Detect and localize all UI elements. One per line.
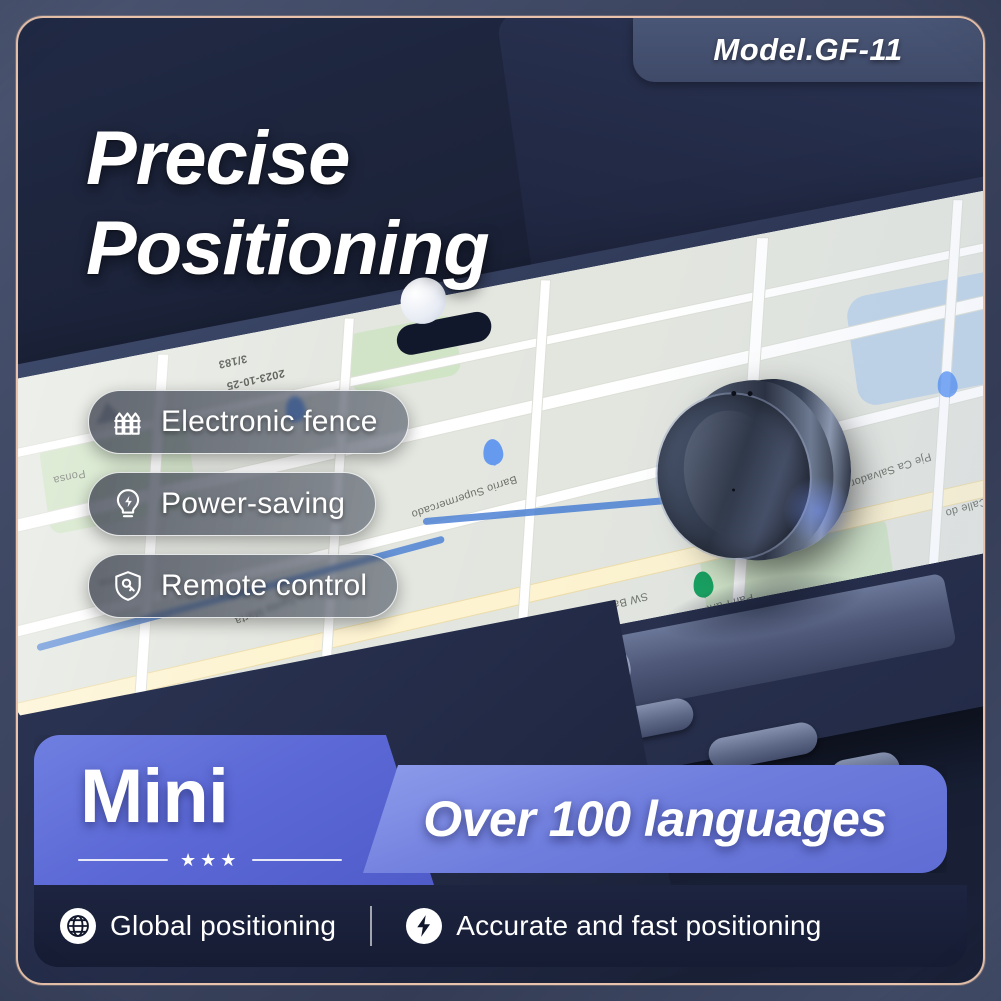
model-label: Model.GF-11 bbox=[713, 32, 902, 68]
feature-label: Electronic fence bbox=[161, 405, 378, 439]
headline: Precise Positioning bbox=[86, 114, 489, 293]
mini-label: Mini bbox=[80, 753, 228, 840]
footer-bar: Global positioning Accurate and fast pos… bbox=[34, 885, 967, 967]
product-banner: 2023-10-25 3/183 Ponsa Time Pasaje Santa… bbox=[0, 0, 1001, 1001]
footer-item-label: Accurate and fast positioning bbox=[456, 910, 821, 942]
feature-pill-power-saving[interactable]: Power-saving bbox=[88, 472, 376, 536]
bottom-banner: Mini ★★★ Over 100 languages bbox=[18, 735, 983, 885]
footer-item-global-positioning[interactable]: Global positioning bbox=[34, 908, 362, 944]
gps-tracker-device bbox=[642, 360, 874, 592]
languages-label: Over 100 languages bbox=[423, 790, 886, 848]
headline-line-1: Precise bbox=[86, 114, 489, 204]
feature-label: Remote control bbox=[161, 569, 367, 603]
feature-pill-electronic-fence[interactable]: Electronic fence bbox=[88, 390, 409, 454]
stars-decoration: ★★★ bbox=[78, 851, 342, 869]
footer-divider bbox=[370, 906, 372, 946]
feature-pill-remote-control[interactable]: Remote control bbox=[88, 554, 398, 618]
globe-icon bbox=[60, 908, 96, 944]
lightbulb-bolt-icon bbox=[111, 487, 145, 521]
stars-label: ★★★ bbox=[180, 851, 240, 869]
fence-icon bbox=[111, 405, 145, 439]
divider-line-right bbox=[252, 859, 342, 861]
model-badge: Model.GF-11 bbox=[633, 18, 983, 82]
feature-label: Power-saving bbox=[161, 487, 345, 521]
bolt-icon bbox=[406, 908, 442, 944]
footer-item-accurate-fast-positioning[interactable]: Accurate and fast positioning bbox=[380, 908, 847, 944]
shield-key-icon bbox=[111, 569, 145, 603]
divider-line-left bbox=[78, 859, 168, 861]
headline-line-2: Positioning bbox=[86, 204, 489, 294]
languages-panel: Over 100 languages bbox=[363, 765, 947, 873]
feature-pill-list: Electronic fence Power-saving bbox=[88, 390, 409, 618]
footer-item-label: Global positioning bbox=[110, 910, 336, 942]
framed-card: 2023-10-25 3/183 Ponsa Time Pasaje Santa… bbox=[18, 18, 983, 983]
